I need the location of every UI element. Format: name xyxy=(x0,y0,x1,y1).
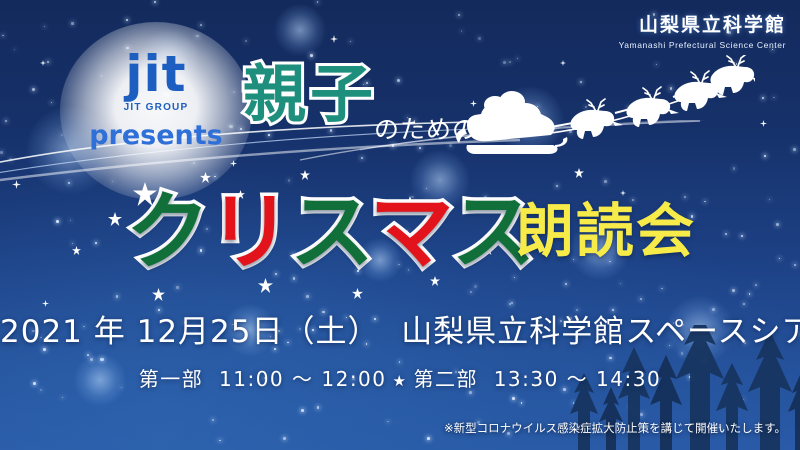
star-dot xyxy=(743,303,745,305)
sparkle-icon xyxy=(330,35,338,43)
star-dot xyxy=(565,283,567,285)
covid-notice: ※新型コロナウイルス感染症拡大防止策を講じて開催いたします。 xyxy=(444,420,786,436)
event-venue: 山梨県立科学館スペースシアター xyxy=(401,314,800,350)
jit-group-text: JIT GROUP xyxy=(86,102,226,113)
star-dot xyxy=(511,302,514,305)
sponsor-logo-block: jit JIT GROUP presents xyxy=(86,48,226,173)
star-dot xyxy=(245,40,247,42)
event-type-title: 朗読会 xyxy=(516,200,696,262)
sparkle-icon xyxy=(40,60,46,66)
star-dot xyxy=(458,14,460,16)
title-connector: のための xyxy=(374,110,478,146)
event-date-venue: 2021 年 12月25日（土） 山梨県立科学館スペースシアター xyxy=(0,306,800,351)
star-separator-icon: ★ xyxy=(387,372,414,390)
session-2-time: 13:30 ～ 14:30 xyxy=(494,367,662,391)
star-dot xyxy=(51,102,52,103)
star-dot xyxy=(509,303,511,305)
star-dot xyxy=(350,41,351,42)
star-dot xyxy=(32,88,35,91)
main-title-char-1: リ xyxy=(208,183,290,281)
main-title-char-2: ス xyxy=(290,183,369,281)
star-glow xyxy=(274,4,326,56)
star-dot xyxy=(640,298,642,300)
star-dot xyxy=(126,19,128,21)
star-dot xyxy=(732,289,735,292)
main-title-char-3: マ xyxy=(370,183,452,281)
main-title-char-0: ク xyxy=(126,183,208,281)
star-dot xyxy=(749,293,750,294)
event-date: 2021 年 12月25日（土） xyxy=(0,314,380,350)
white-star-decoration xyxy=(152,288,165,301)
session-1-time: 11:00 ～ 12:00 xyxy=(219,367,387,391)
star-dot xyxy=(14,49,15,50)
christmas-event-poster: 山梨県立科学館 Yamanashi Prefectural Science Ce… xyxy=(0,0,800,450)
main-title-row: クリスマス 朗読会 xyxy=(0,186,800,282)
main-title-christmas: クリスマス xyxy=(126,186,534,278)
venue-logo-en: Yamanashi Prefectural Science Center xyxy=(619,40,786,50)
star-dot xyxy=(478,37,481,40)
star-dot xyxy=(71,22,74,25)
white-star-decoration xyxy=(352,288,363,299)
star-dot xyxy=(461,30,463,32)
star-dot xyxy=(47,61,49,63)
star-dot xyxy=(755,284,757,286)
star-dot xyxy=(397,79,400,82)
presents-text: presents xyxy=(86,121,226,151)
star-dot xyxy=(470,291,472,293)
star-dot xyxy=(661,288,663,290)
star-dot xyxy=(2,35,4,37)
session-1-label: 第一部 xyxy=(139,367,204,391)
star-dot xyxy=(620,283,621,284)
jit-logo-text: jit xyxy=(86,48,226,100)
star-dot xyxy=(474,285,477,288)
venue-logo: 山梨県立科学館 Yamanashi Prefectural Science Ce… xyxy=(619,10,786,50)
session-2-label: 第二部 xyxy=(413,367,478,391)
star-dot xyxy=(773,97,775,99)
title-audience: 親子 xyxy=(243,62,377,128)
star-dot xyxy=(306,295,309,298)
star-dot xyxy=(200,24,202,26)
venue-logo-jp: 山梨県立科学館 xyxy=(619,10,786,37)
star-dot xyxy=(44,26,45,27)
star-dot xyxy=(116,295,118,297)
star-dot xyxy=(317,1,318,2)
star-dot xyxy=(154,1,156,3)
session-times: 第一部 11:00 ～ 12:00★第二部 13:30 ～ 14:30 xyxy=(0,363,800,392)
star-dot xyxy=(310,54,313,57)
santa-sleigh-icon xyxy=(455,55,755,170)
star-dot xyxy=(762,97,764,99)
star-dot xyxy=(176,286,178,288)
